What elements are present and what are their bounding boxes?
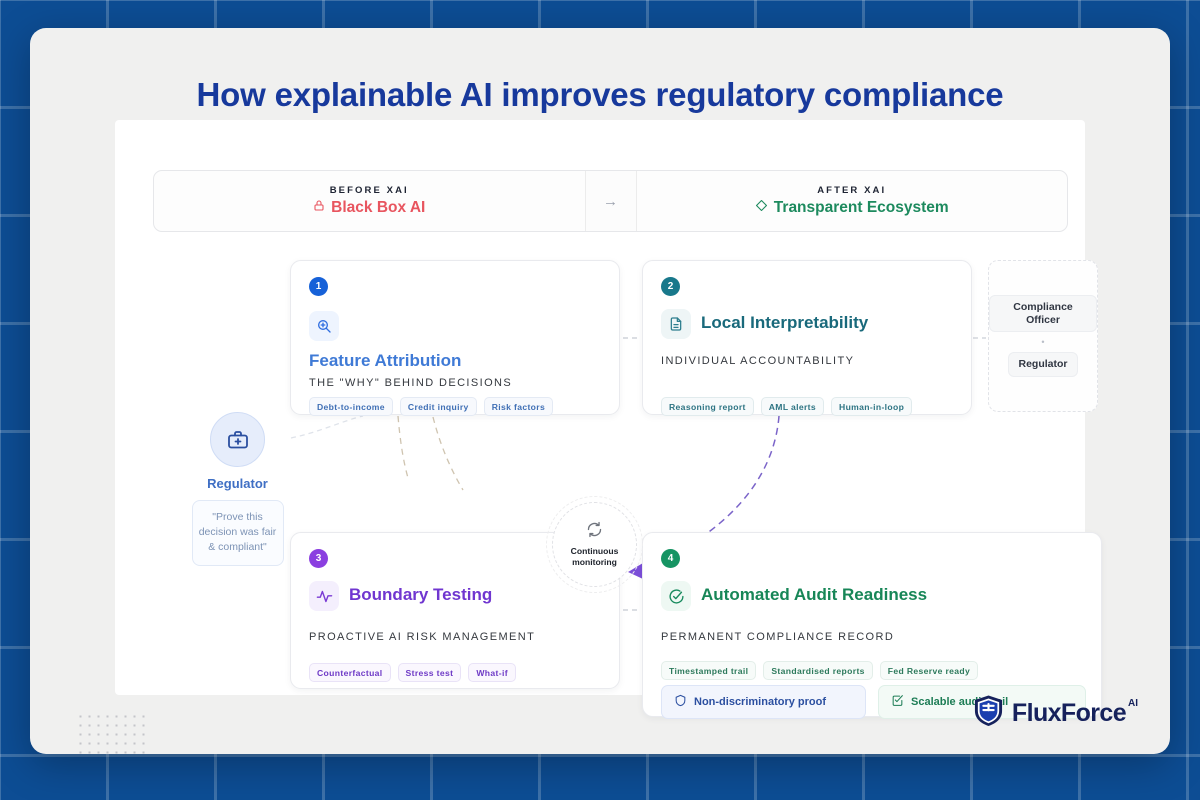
- before-xai-value: Black Box AI: [331, 199, 425, 217]
- card-chip-row: Counterfactual Stress test What-if: [309, 663, 516, 682]
- card-number-badge: 2: [661, 277, 680, 296]
- card-title: Boundary Testing: [349, 585, 492, 605]
- card-title: Local Interpretability: [701, 313, 868, 333]
- chip[interactable]: Stress test: [398, 663, 462, 682]
- stakeholder-separator: •: [1041, 337, 1044, 347]
- card-title: Automated Audit Readiness: [701, 585, 927, 605]
- chip[interactable]: Fed Reserve ready: [880, 661, 978, 680]
- transition-arrow: →: [585, 171, 637, 231]
- persona-quote: "Prove this decision was fair & complian…: [192, 500, 284, 566]
- after-xai-block: AFTER XAI Transparent Ecosystem: [637, 171, 1068, 231]
- card-number-badge: 4: [661, 549, 680, 568]
- arrow-right-icon: →: [603, 193, 618, 210]
- card-title: Feature Attribution: [309, 351, 461, 371]
- card-feature-attribution[interactable]: 1 Feature Attribution THE "WHY" BEHIND D…: [290, 260, 620, 415]
- wide-chip-label: Non-discriminatory proof: [694, 696, 826, 708]
- persona-regulator: Regulator "Prove this decision was fair …: [185, 412, 290, 566]
- diagram-panel: BEFORE XAI Black Box AI → AFTER XAI: [115, 120, 1085, 695]
- chip[interactable]: Debt-to-income: [309, 397, 393, 416]
- card-automated-audit-readiness[interactable]: 4 Automated Audit Readiness PERMANENT CO…: [642, 532, 1102, 717]
- magnifier-plus-icon: [309, 311, 339, 341]
- dot-grid-decoration: [76, 712, 148, 754]
- persona-label: Regulator: [207, 476, 268, 491]
- chip[interactable]: Credit inquiry: [400, 397, 477, 416]
- wide-chip-non-discriminatory-proof[interactable]: Non-discriminatory proof: [661, 685, 866, 719]
- stakeholder-box: Compliance Officer • Regulator: [988, 260, 1098, 412]
- before-xai-value-row: Black Box AI: [313, 199, 425, 217]
- chip[interactable]: AML alerts: [761, 397, 824, 416]
- monitoring-outer-ring: [546, 496, 643, 593]
- lock-icon: [313, 199, 325, 217]
- pulse-activity-icon: [309, 581, 339, 611]
- brand-superscript: AI: [1128, 698, 1138, 709]
- card-chip-row: Debt-to-income Credit inquiry Risk facto…: [309, 397, 553, 416]
- brand-name: FluxForce: [1012, 699, 1126, 728]
- stakeholder-compliance-officer[interactable]: Compliance Officer: [989, 295, 1097, 332]
- after-xai-kicker: AFTER XAI: [817, 185, 886, 196]
- chip[interactable]: What-if: [468, 663, 516, 682]
- card-subtitle: PERMANENT COMPLIANCE RECORD: [661, 631, 894, 643]
- card-subtitle: THE "WHY" BEHIND DECISIONS: [309, 377, 512, 389]
- card-chip-row: Reasoning report AML alerts Human-in-loo…: [661, 397, 912, 416]
- poster-canvas: How explainable AI improves regulatory c…: [30, 28, 1170, 754]
- before-xai-kicker: BEFORE XAI: [330, 185, 409, 196]
- brand-logo: FluxForce AI: [973, 694, 1138, 732]
- connector-card1-drop-a: [398, 416, 408, 478]
- card-subtitle: PROACTIVE AI RISK MANAGEMENT: [309, 631, 535, 643]
- document-icon: [661, 309, 691, 339]
- chip[interactable]: Risk factors: [484, 397, 553, 416]
- before-xai-block: BEFORE XAI Black Box AI: [154, 171, 585, 231]
- connector-card1-drop-b: [433, 417, 463, 490]
- after-xai-value: Transparent Ecosystem: [774, 199, 949, 217]
- state-transition-banner: BEFORE XAI Black Box AI → AFTER XAI: [153, 170, 1068, 232]
- briefcase-medical-icon: [210, 412, 265, 467]
- card-local-interpretability[interactable]: 2 Local Interpretability INDIVIDUAL ACCO…: [642, 260, 972, 415]
- check-circle-icon: [661, 581, 691, 611]
- card-number-badge: 3: [309, 549, 328, 568]
- connector-persona-card1: [291, 416, 363, 438]
- check-square-icon: [891, 694, 904, 710]
- chip[interactable]: Timestamped trail: [661, 661, 756, 680]
- card-chip-row: Timestamped trail Standardised reports F…: [661, 661, 978, 680]
- chip[interactable]: Reasoning report: [661, 397, 754, 416]
- card-subtitle: INDIVIDUAL ACCOUNTABILITY: [661, 355, 854, 367]
- diamond-icon: [755, 199, 768, 217]
- chip[interactable]: Human-in-loop: [831, 397, 912, 416]
- stakeholder-regulator[interactable]: Regulator: [1008, 352, 1077, 377]
- card-number-badge: 1: [309, 277, 328, 296]
- shield-logo-icon: [973, 694, 1004, 732]
- page-title: How explainable AI improves regulatory c…: [30, 76, 1170, 114]
- after-xai-value-row: Transparent Ecosystem: [755, 199, 949, 217]
- shield-icon: [674, 694, 687, 710]
- chip[interactable]: Counterfactual: [309, 663, 391, 682]
- continuous-monitoring-node[interactable]: Continuous monitoring: [552, 502, 637, 587]
- chip[interactable]: Standardised reports: [763, 661, 872, 680]
